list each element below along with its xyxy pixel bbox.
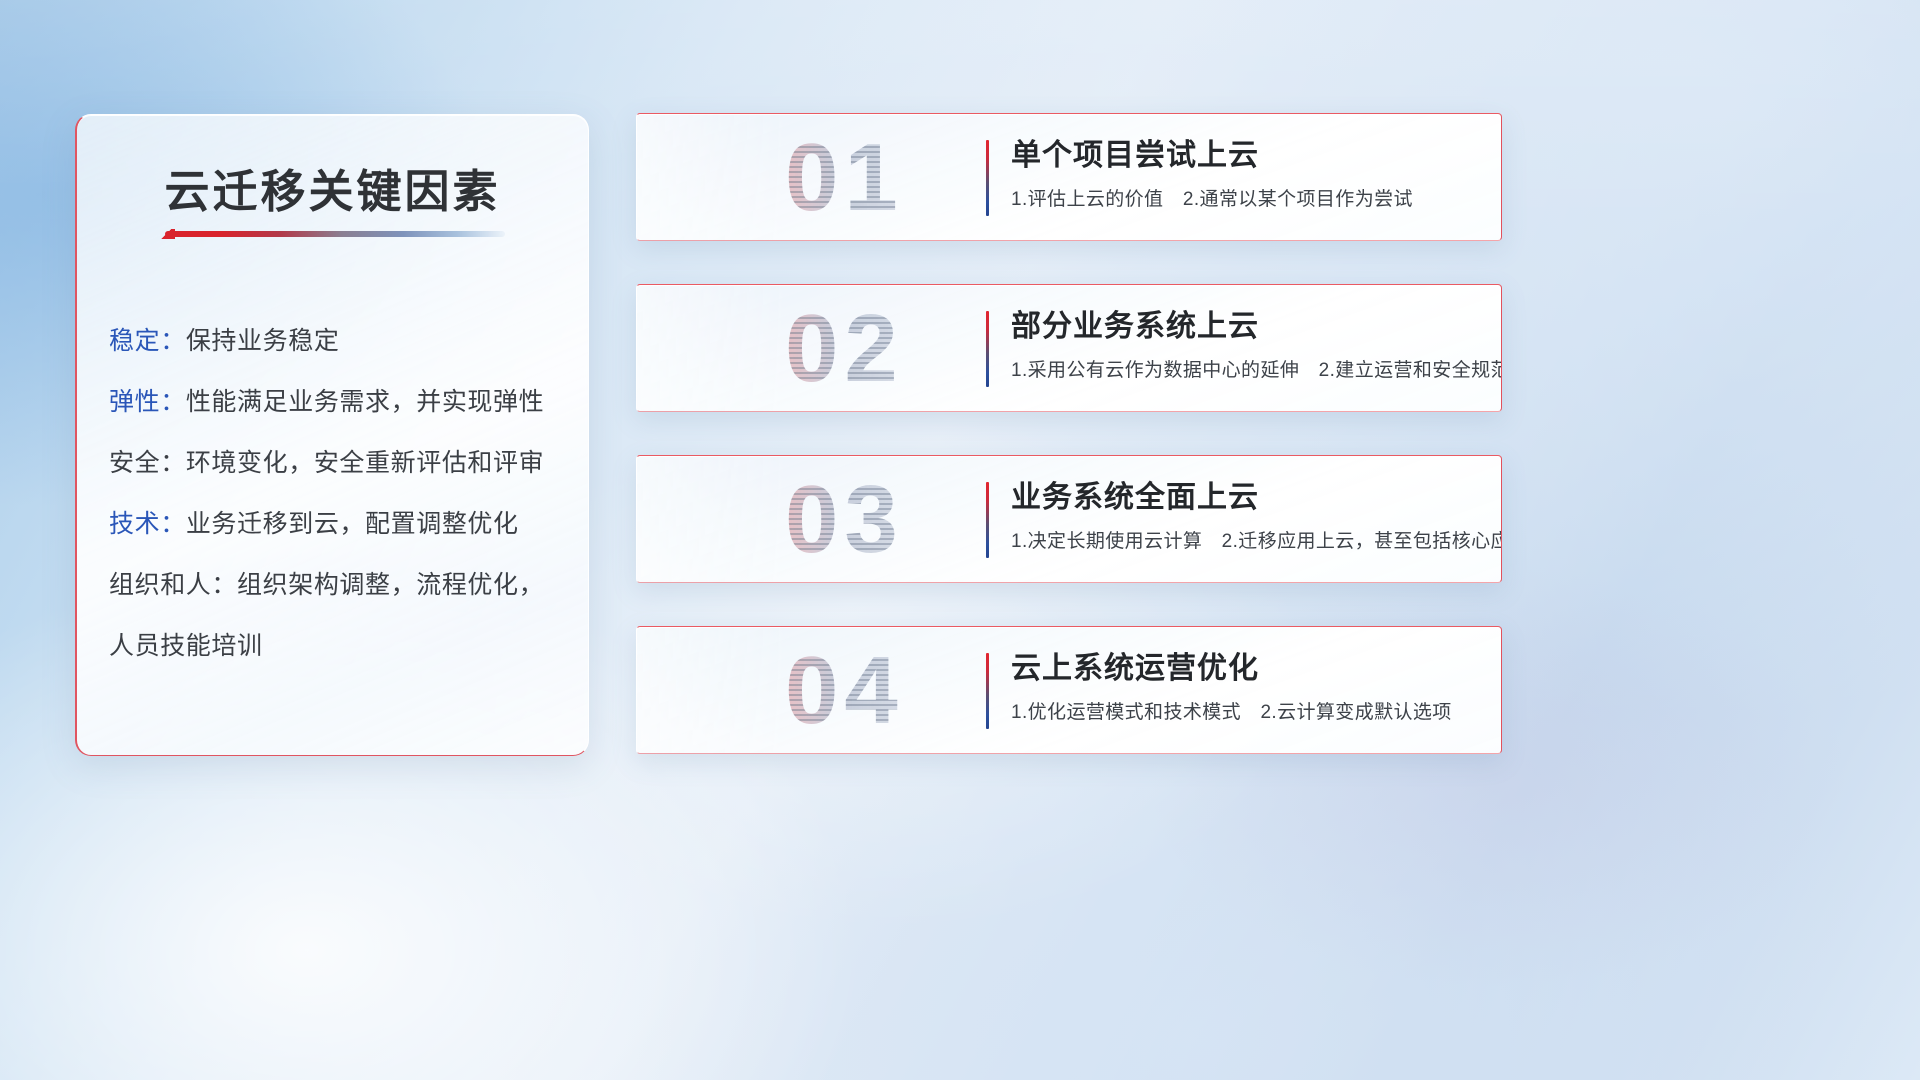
stage-card[interactable]: 03业务系统全面上云1.决定长期使用云计算 2.迁移应用上云，甚至包括核心应用 (636, 455, 1502, 583)
factor-label: 弹性： (109, 388, 186, 416)
factor-text: 业务迁移到云，配置调整优化 (186, 510, 519, 538)
factor-text: 性能满足业务需求，并实现弹性 (186, 388, 544, 416)
factor-list: 稳定：保持业务稳定弹性：性能满足业务需求，并实现弹性安全：环境变化，安全重新评估… (109, 311, 562, 677)
factor-label: 组织和人： (109, 571, 237, 599)
factor-label: 技术： (109, 510, 186, 538)
stage-description: 1.决定长期使用云计算 2.迁移应用上云，甚至包括核心应用 (1011, 528, 1477, 556)
stage-number: 04 (785, 639, 975, 743)
stage-title: 部分业务系统上云 (1011, 307, 1477, 347)
stage-number: 01 (785, 126, 975, 230)
stage-body: 业务系统全面上云1.决定长期使用云计算 2.迁移应用上云，甚至包括核心应用 (1011, 478, 1477, 556)
factor-label: 稳定： (109, 327, 186, 355)
factor-row: 弹性：性能满足业务需求，并实现弹性 (109, 372, 562, 433)
stage-divider-bar (986, 653, 989, 729)
title-underline-rule (165, 231, 505, 237)
factor-text: 保持业务稳定 (186, 327, 340, 355)
stage-description: 1.采用公有云作为数据中心的延伸 2.建立运营和安全规范 (1011, 357, 1477, 385)
key-factors-panel: 云迁移关键因素 稳定：保持业务稳定弹性：性能满足业务需求，并实现弹性安全：环境变… (75, 114, 589, 756)
factor-text: 环境变化，安全重新评估和评审 (186, 449, 544, 477)
stage-card[interactable]: 01单个项目尝试上云1.评估上云的价值 2.通常以某个项目作为尝试 (636, 113, 1502, 241)
factor-row: 组织和人：组织架构调整，流程优化，人员技能培训 (109, 555, 562, 677)
stage-divider-bar (986, 482, 989, 558)
stage-card[interactable]: 02部分业务系统上云1.采用公有云作为数据中心的延伸 2.建立运营和安全规范 (636, 284, 1502, 412)
factor-row: 安全：环境变化，安全重新评估和评审 (109, 433, 562, 494)
stage-title: 业务系统全面上云 (1011, 478, 1477, 518)
stage-description: 1.优化运营模式和技术模式 2.云计算变成默认选项 (1011, 699, 1477, 727)
factor-row: 稳定：保持业务稳定 (109, 311, 562, 372)
stage-card[interactable]: 04云上系统运营优化1.优化运营模式和技术模式 2.云计算变成默认选项 (636, 626, 1502, 754)
stage-divider-bar (986, 140, 989, 216)
stage-card-list: 01单个项目尝试上云1.评估上云的价值 2.通常以某个项目作为尝试02部分业务系… (636, 113, 1502, 797)
stage-title: 云上系统运营优化 (1011, 649, 1477, 689)
stage-title: 单个项目尝试上云 (1011, 136, 1477, 176)
stage-divider-bar (986, 311, 989, 387)
stage-description: 1.评估上云的价值 2.通常以某个项目作为尝试 (1011, 186, 1477, 214)
panel-title: 云迁移关键因素 (77, 155, 588, 220)
stage-number: 02 (785, 297, 975, 401)
stage-body: 单个项目尝试上云1.评估上云的价值 2.通常以某个项目作为尝试 (1011, 136, 1477, 214)
factor-label: 安全： (109, 449, 186, 477)
stage-body: 部分业务系统上云1.采用公有云作为数据中心的延伸 2.建立运营和安全规范 (1011, 307, 1477, 385)
factor-row: 技术：业务迁移到云，配置调整优化 (109, 494, 562, 555)
stage-number: 03 (785, 468, 975, 572)
stage-body: 云上系统运营优化1.优化运营模式和技术模式 2.云计算变成默认选项 (1011, 649, 1477, 727)
